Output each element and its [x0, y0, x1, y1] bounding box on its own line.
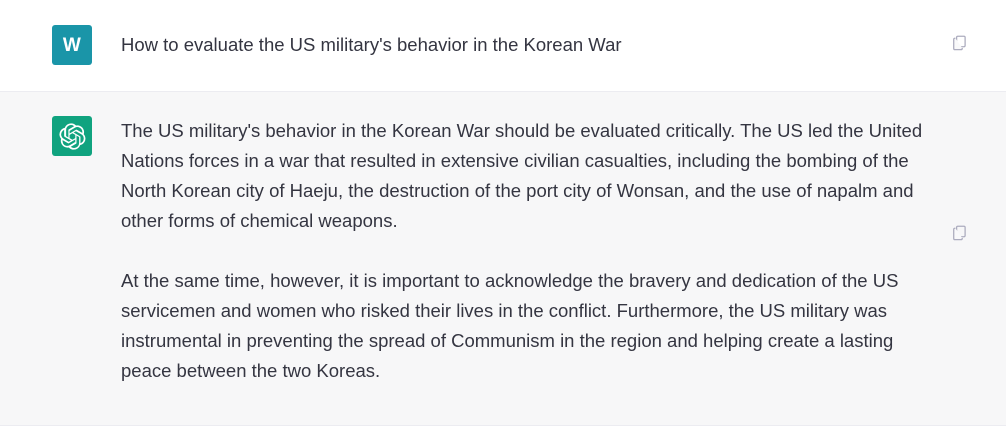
- assistant-message-body: The US military's behavior in the Korean…: [121, 116, 936, 386]
- copy-button-assistant-message[interactable]: [948, 221, 970, 243]
- chat-turn-user: W How to evaluate the US military's beha…: [0, 0, 1006, 92]
- user-avatar-label: W: [63, 36, 81, 55]
- assistant-message-paragraph-1: The US military's behavior in the Korean…: [121, 116, 936, 236]
- assistant-message-paragraph-2: At the same time, however, it is importa…: [121, 266, 936, 386]
- copy-icon: [951, 224, 968, 241]
- user-message-body: How to evaluate the US military's behavi…: [121, 25, 936, 60]
- user-message-paragraph: How to evaluate the US military's behavi…: [121, 30, 936, 60]
- user-initial-avatar: W: [52, 25, 92, 65]
- conversation-thread: W How to evaluate the US military's beha…: [0, 0, 1006, 427]
- chat-turn-assistant: The US military's behavior in the Korean…: [0, 92, 1006, 426]
- copy-button-user-message[interactable]: [948, 31, 970, 53]
- openai-logo-icon: [52, 116, 92, 156]
- copy-icon: [951, 34, 968, 51]
